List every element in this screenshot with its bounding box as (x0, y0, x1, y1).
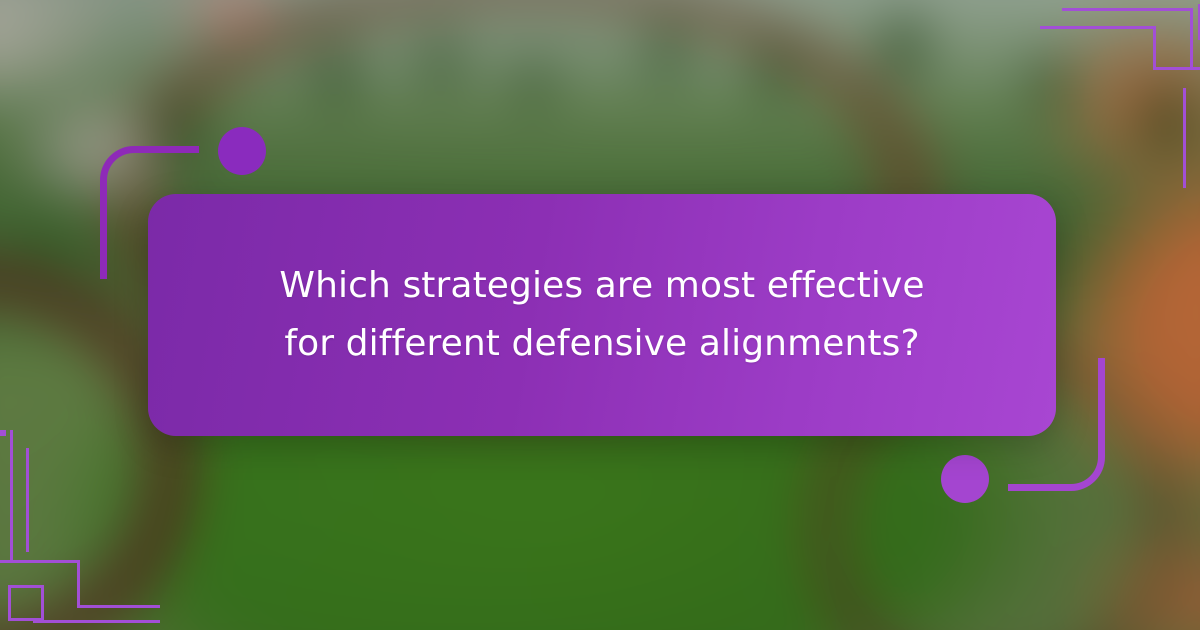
circuit-bottom-left-icon (0, 430, 160, 630)
dot-top-left-icon (218, 127, 266, 175)
question-card: Which strategies are most effective for … (148, 194, 1056, 436)
circuit-top-right-icon (1040, 0, 1200, 200)
dot-bottom-right-icon (941, 455, 989, 503)
social-card-canvas: Which strategies are most effective for … (0, 0, 1200, 630)
question-text: Which strategies are most effective for … (252, 257, 952, 374)
